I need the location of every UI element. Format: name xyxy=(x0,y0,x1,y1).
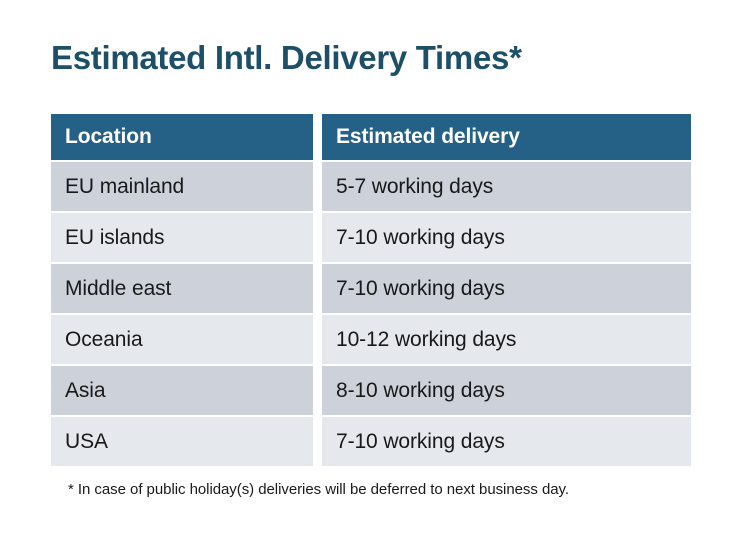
table-row: Middle east 7-10 working days xyxy=(51,264,691,313)
table-row: EU mainland 5-7 working days xyxy=(51,162,691,211)
page-title: Estimated Intl. Delivery Times* xyxy=(51,36,522,80)
column-divider xyxy=(313,417,322,466)
cell-delivery: 7-10 working days xyxy=(322,213,691,262)
cell-delivery: 10-12 working days xyxy=(322,315,691,364)
cell-location: Middle east xyxy=(51,264,313,313)
cell-delivery: 7-10 working days xyxy=(322,417,691,466)
column-divider xyxy=(313,264,322,313)
table-row: Asia 8-10 working days xyxy=(51,366,691,415)
cell-location: EU islands xyxy=(51,213,313,262)
column-divider xyxy=(313,315,322,364)
cell-location: EU mainland xyxy=(51,162,313,211)
cell-location: Asia xyxy=(51,366,313,415)
column-divider xyxy=(313,162,322,211)
column-divider xyxy=(313,213,322,262)
table-header-row: Location Estimated delivery xyxy=(51,114,691,160)
cell-location: USA xyxy=(51,417,313,466)
cell-delivery: 5-7 working days xyxy=(322,162,691,211)
delivery-times-table: Location Estimated delivery EU mainland … xyxy=(51,114,691,466)
column-divider xyxy=(313,366,322,415)
cell-location: Oceania xyxy=(51,315,313,364)
table-row: EU islands 7-10 working days xyxy=(51,213,691,262)
delivery-times-page: Estimated Intl. Delivery Times* Location… xyxy=(0,0,745,536)
table-row: Oceania 10-12 working days xyxy=(51,315,691,364)
table-row: USA 7-10 working days xyxy=(51,417,691,466)
column-divider xyxy=(313,114,322,160)
cell-delivery: 7-10 working days xyxy=(322,264,691,313)
column-header-location: Location xyxy=(51,114,313,160)
footnote-text: * In case of public holiday(s) deliverie… xyxy=(68,480,569,500)
cell-delivery: 8-10 working days xyxy=(322,366,691,415)
column-header-delivery: Estimated delivery xyxy=(322,114,691,160)
table-body: EU mainland 5-7 working days EU islands … xyxy=(51,160,691,466)
